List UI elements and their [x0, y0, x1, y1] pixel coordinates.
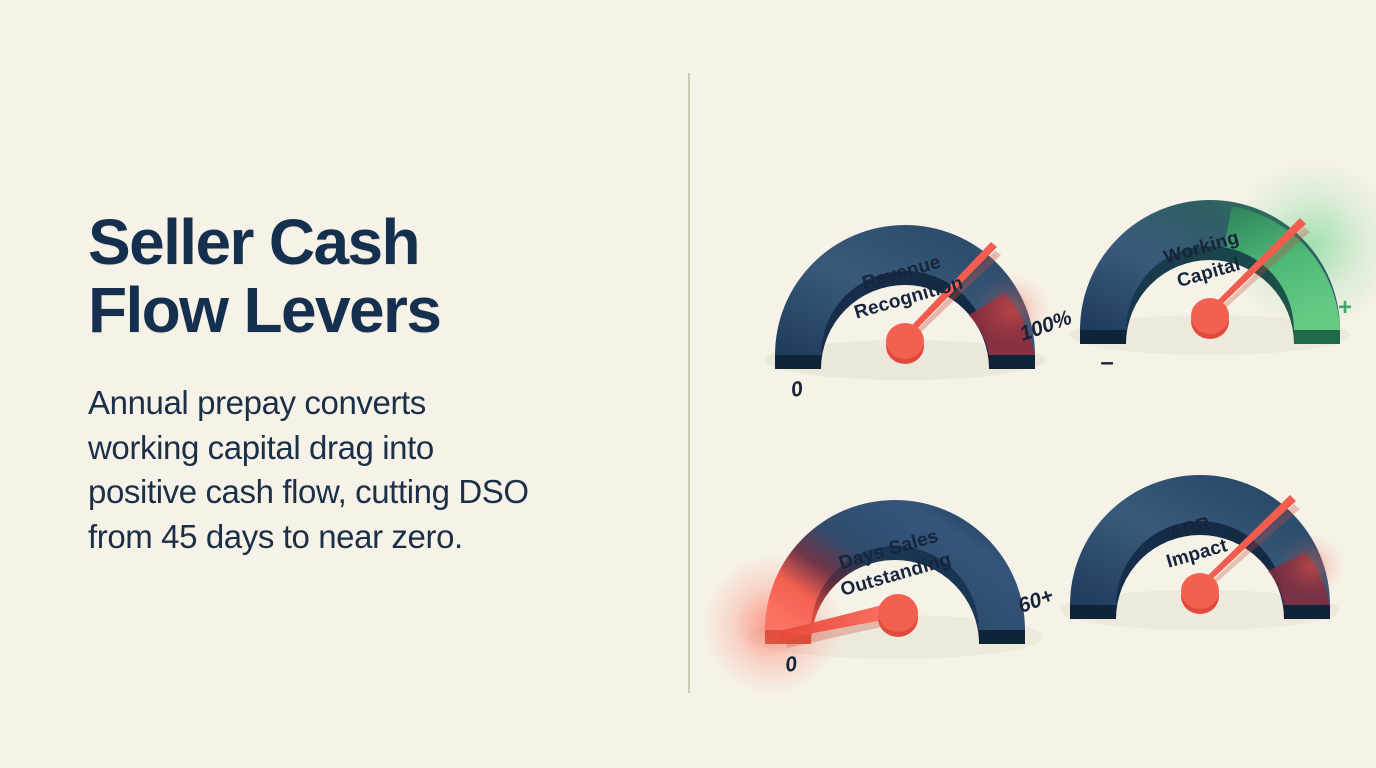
gauge-arr-impact: ARR Impact — [1035, 360, 1365, 650]
gauge-working-capital: Working Capital – + — [1045, 85, 1375, 375]
gauge-days-sales-outstanding: Days Sales Outstanding 0 60+ — [720, 375, 1060, 675]
gauge-foot-right — [1284, 605, 1330, 619]
vertical-divider — [688, 73, 690, 693]
text-column: Seller Cash Flow Levers Annual prepay co… — [88, 0, 628, 768]
gauge-foot-left — [1080, 330, 1126, 344]
gauge-grid: Revenue Recognition 0 100% — [700, 60, 1376, 720]
slide-canvas: Seller Cash Flow Levers Annual prepay co… — [0, 0, 1376, 768]
gauge-revenue-recognition: Revenue Recognition 0 100% — [740, 110, 1070, 400]
page-title: Seller Cash Flow Levers — [88, 208, 628, 345]
gauge-foot-left — [775, 355, 821, 369]
gauge-foot-right — [1294, 330, 1340, 344]
gauge-max-label: + — [1338, 294, 1352, 321]
gauge-zone-glow — [1277, 534, 1345, 598]
gauge-foot-right — [989, 355, 1035, 369]
gauge-foot-right — [979, 630, 1025, 644]
page-subcopy: Annual prepay converts working capital d… — [88, 381, 628, 561]
gauge-foot-left — [1070, 605, 1116, 619]
